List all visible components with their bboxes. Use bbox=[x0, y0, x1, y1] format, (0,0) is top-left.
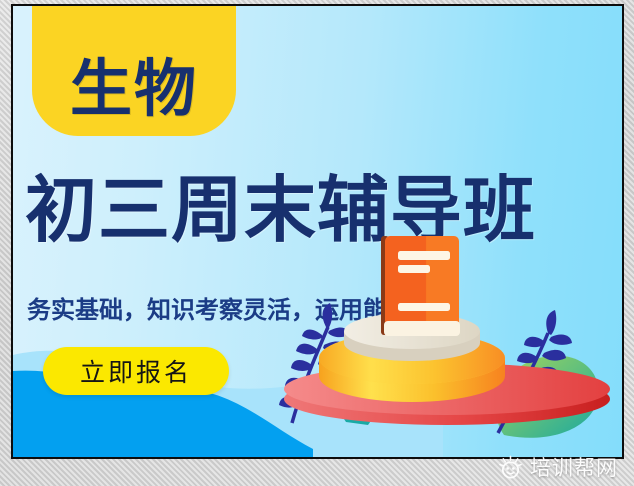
book-illustration bbox=[381, 236, 460, 336]
subject-badge: 生物 bbox=[32, 4, 236, 136]
site-watermark: 培训帮网 bbox=[492, 448, 626, 486]
watermark-text: 培训帮网 bbox=[530, 452, 618, 482]
sun-face-icon bbox=[498, 455, 523, 480]
subject-label: 生物 bbox=[70, 58, 198, 120]
podium-illustration bbox=[272, 227, 622, 457]
enroll-now-button[interactable]: 立即报名 bbox=[43, 347, 229, 395]
course-poster: 生物 初三周末辅导班 务实基础，知识考察灵活，运用能力提升 立即报名 bbox=[11, 4, 624, 459]
